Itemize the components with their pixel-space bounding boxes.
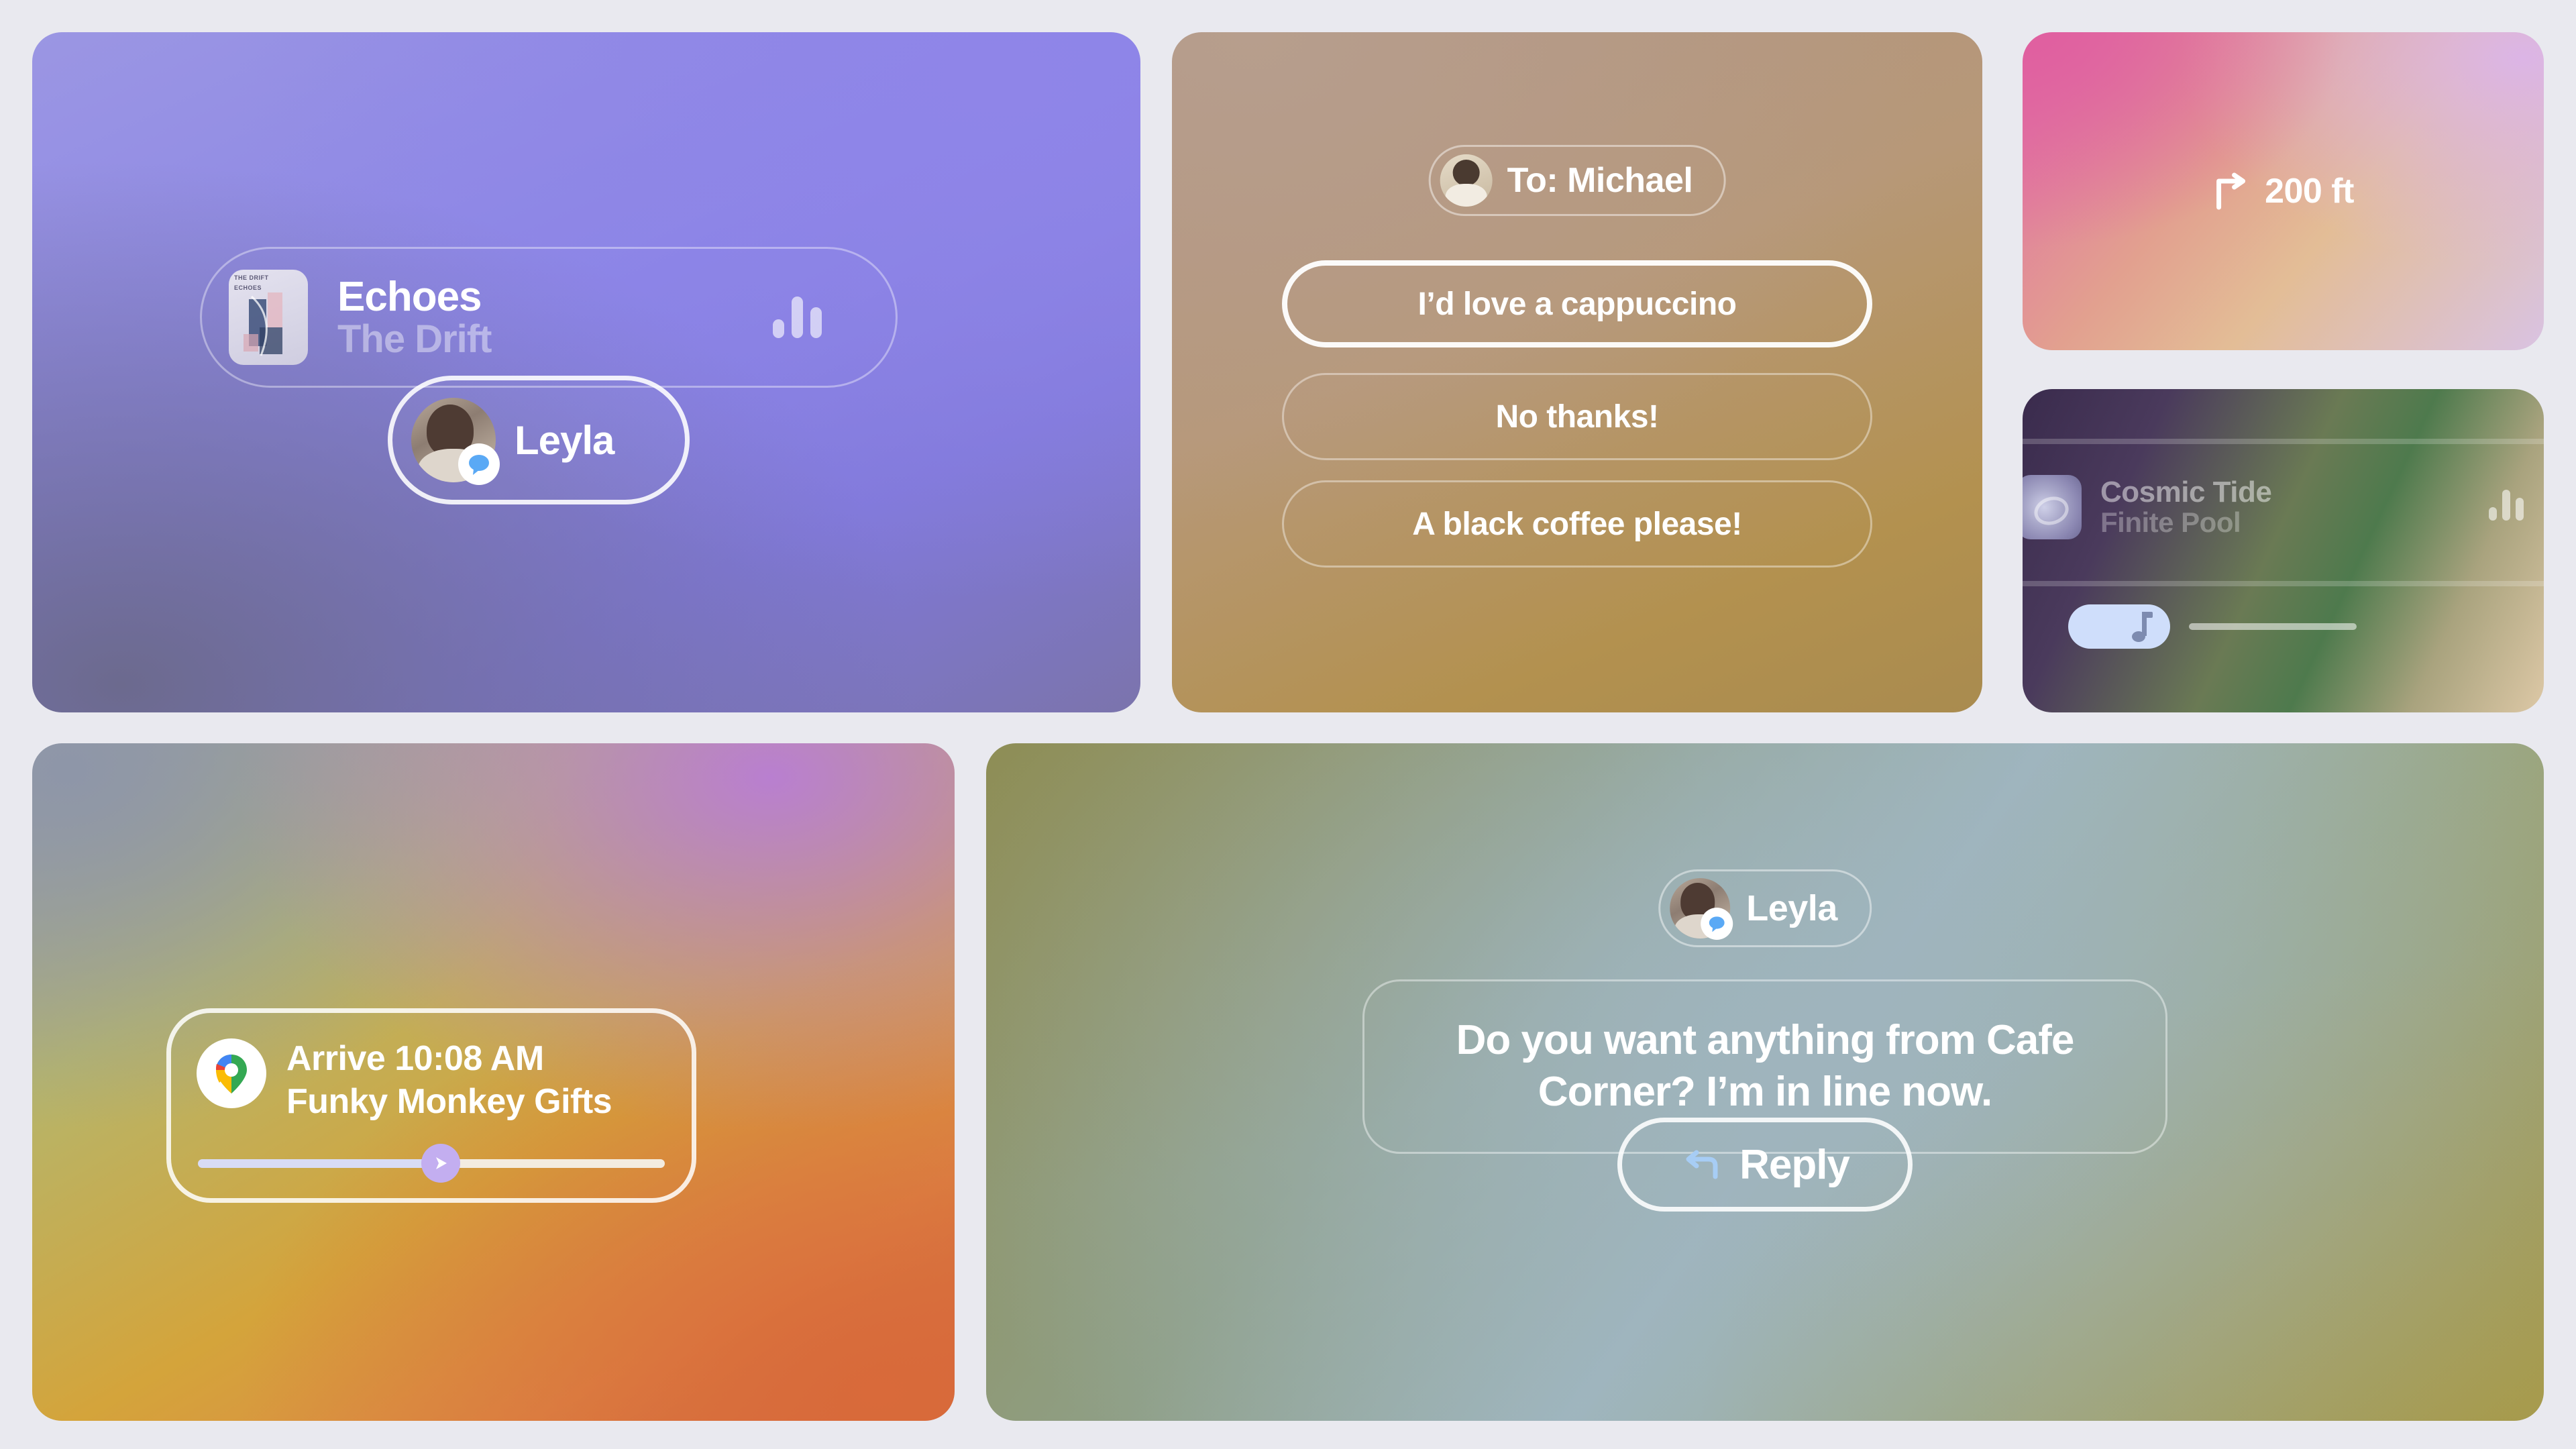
arrive-destination: Funky Monkey Gifts xyxy=(286,1081,612,1122)
cosmic-track-artist: Finite Pool xyxy=(2100,506,2271,539)
reply-arrow-icon xyxy=(1680,1147,1722,1182)
divider-bottom xyxy=(2023,581,2544,586)
route-progress-remaining xyxy=(441,1159,665,1168)
messages-badge-icon xyxy=(458,443,500,485)
recipient-label: To: Michael xyxy=(1507,160,1693,201)
message-body: Do you want anything from Cafe Corner? I… xyxy=(1402,1015,2128,1118)
equalizer-icon xyxy=(2489,490,2524,521)
route-progress-bar[interactable] xyxy=(198,1144,665,1182)
now-playing-pill[interactable]: THE DRIFT ECHOES Echoes The Drift xyxy=(200,247,898,388)
track-artist: The Drift xyxy=(337,317,491,362)
reply-button[interactable]: Reply xyxy=(1617,1118,1913,1212)
messages-badge-icon xyxy=(1701,908,1733,940)
avatar xyxy=(411,398,496,482)
route-progress-fill xyxy=(198,1159,441,1168)
recipient-pill[interactable]: To: Michael xyxy=(1429,145,1726,216)
divider-top xyxy=(2023,439,2544,444)
reply-options-card[interactable]: To: Michael I’d love a cappuccino No tha… xyxy=(1172,32,1982,712)
turn-right-icon xyxy=(2212,172,2250,211)
route-progress-thumb[interactable] xyxy=(421,1144,460,1183)
avatar xyxy=(1670,878,1730,938)
reply-option-0[interactable]: I’d love a cappuccino xyxy=(1282,260,1872,347)
cosmic-progress-track[interactable] xyxy=(2189,623,2357,630)
message-sender-pill[interactable]: Leyla xyxy=(1658,869,1872,947)
cosmic-tide-music-card[interactable]: Cosmic Tide Finite Pool xyxy=(2023,389,2544,712)
cosmic-now-playing-row[interactable]: Cosmic Tide Finite Pool xyxy=(2023,475,2271,539)
contact-name: Leyla xyxy=(515,417,614,464)
reply-option-2[interactable]: A black coffee please! xyxy=(1282,480,1872,568)
reply-button-label: Reply xyxy=(1739,1141,1849,1189)
arrive-eta: Arrive 10:08 AM xyxy=(286,1038,612,1079)
widget-dashboard: THE DRIFT ECHOES Echoes The Drift xyxy=(0,0,2576,1449)
arrive-header: Arrive 10:08 AM Funky Monkey Gifts xyxy=(197,1038,666,1122)
cosmic-meta: Cosmic Tide Finite Pool xyxy=(2100,476,2271,539)
incoming-message-card[interactable]: Leyla Do you want anything from Cafe Cor… xyxy=(986,743,2544,1421)
track-title: Echoes xyxy=(337,273,491,321)
reply-option-label: A black coffee please! xyxy=(1412,506,1741,543)
navigation-arrow-icon xyxy=(431,1153,451,1173)
recipient-avatar xyxy=(1440,154,1493,207)
navigation-distance-card[interactable]: 200 ft xyxy=(2023,32,2544,350)
album-art-artwork xyxy=(229,270,308,365)
arrive-pill[interactable]: Arrive 10:08 AM Funky Monkey Gifts xyxy=(166,1008,696,1203)
reply-option-label: I’d love a cappuccino xyxy=(1418,286,1737,323)
navigation-distance: 200 ft xyxy=(2265,171,2354,211)
message-sender-name: Leyla xyxy=(1746,888,1837,929)
equalizer-icon xyxy=(773,297,822,338)
now-playing-meta: Echoes The Drift xyxy=(337,273,491,362)
reply-option-1[interactable]: No thanks! xyxy=(1282,373,1872,460)
cosmic-album-art xyxy=(2023,475,2082,539)
navigation-arrive-card[interactable]: Arrive 10:08 AM Funky Monkey Gifts 8:32 xyxy=(32,743,955,1421)
reply-option-label: No thanks! xyxy=(1495,398,1658,435)
album-art: THE DRIFT ECHOES xyxy=(229,270,308,365)
music-note-icon xyxy=(2129,609,2155,644)
contact-leyla-pill[interactable]: Leyla xyxy=(388,376,690,504)
cosmic-progress-row[interactable] xyxy=(2023,609,2544,644)
music-now-playing-card[interactable]: THE DRIFT ECHOES Echoes The Drift xyxy=(32,32,1140,712)
arrive-text: Arrive 10:08 AM Funky Monkey Gifts xyxy=(286,1038,612,1122)
music-note-pill[interactable] xyxy=(2068,604,2170,649)
google-maps-pin-icon xyxy=(197,1038,266,1108)
cosmic-track-title: Cosmic Tide xyxy=(2100,476,2271,509)
navigation-maneuver-row: 200 ft xyxy=(2212,171,2354,211)
